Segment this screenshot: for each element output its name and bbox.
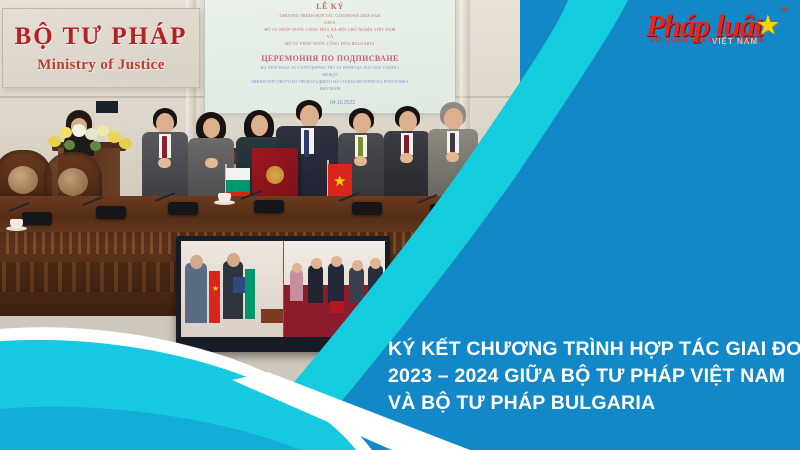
logo-country: VIỆT NAM [712, 37, 758, 46]
headline-line-2: 2023 – 2024 GIỮA BỘ TƯ PHÁP VIỆT NAM [388, 363, 788, 390]
article-headline: KÝ KẾT CHƯƠNG TRÌNH HỢP TÁC GIAI ĐOẠN 20… [388, 336, 788, 417]
trademark-mark: TM [779, 8, 788, 14]
headline-line-3: VÀ BỘ TƯ PHÁP BULGARIA [388, 390, 788, 417]
publication-logo[interactable]: Pháp luật ★ TM CƠ QUAN CỦA HỘI LUẬT GIA … [640, 4, 792, 56]
headline-line-1: KÝ KẾT CHƯƠNG TRÌNH HỢP TÁC GIAI ĐOẠN [388, 336, 788, 363]
star-icon: ★ [756, 12, 780, 39]
news-thumbnail-card: BỘ TƯ PHÁP Ministry of Justice LỄ KÝ CHƯ… [0, 0, 800, 450]
